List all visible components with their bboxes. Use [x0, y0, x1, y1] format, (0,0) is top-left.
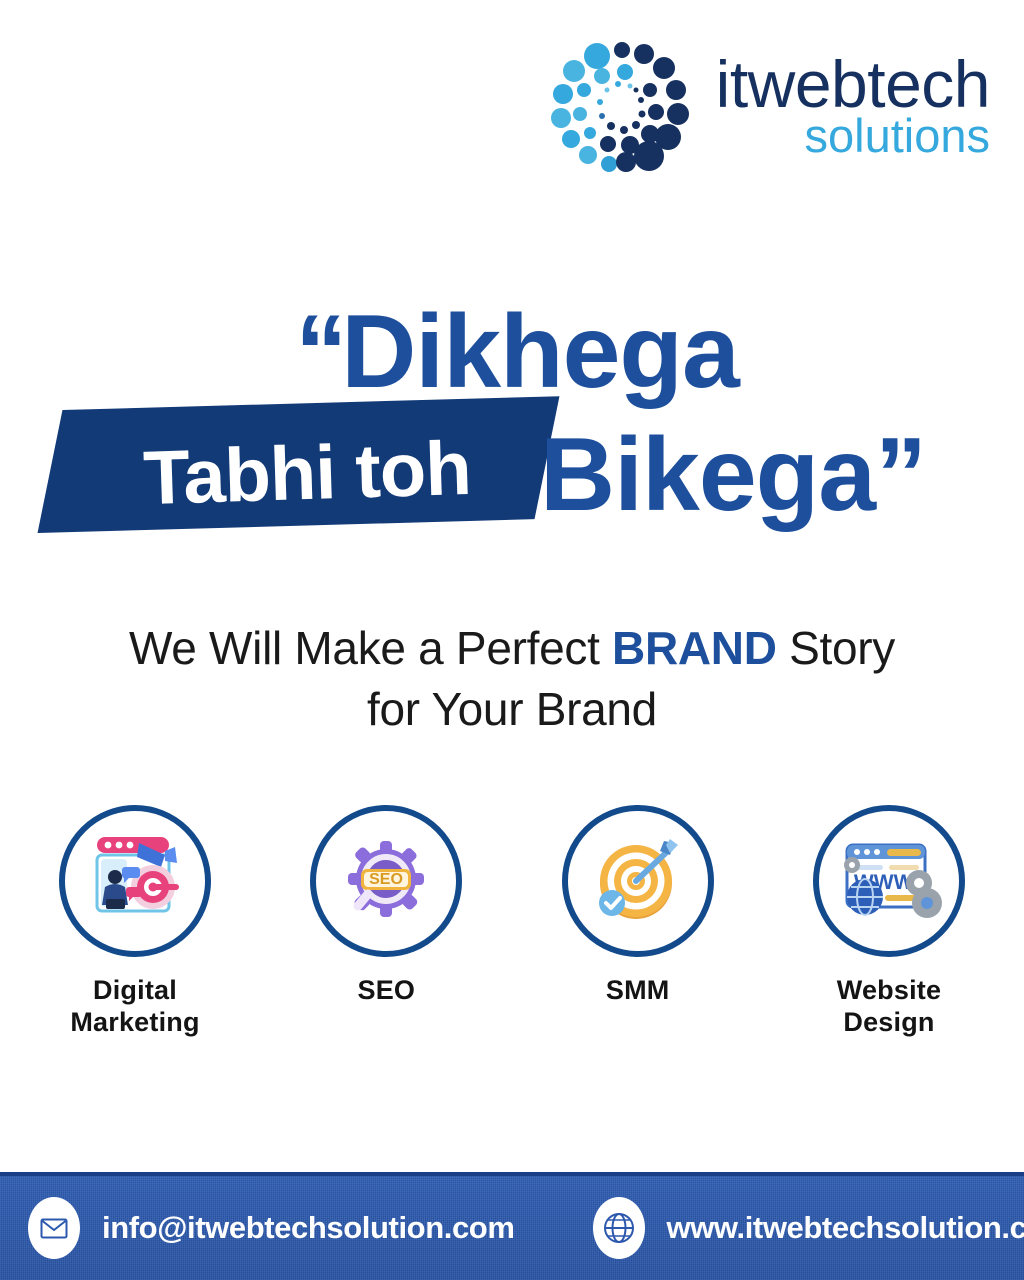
- subheading: We Will Make a Perfect BRAND Story for Y…: [0, 618, 1024, 739]
- digital-marketing-icon: [81, 829, 189, 933]
- headline-line-2: Tabhi toh Bikega”: [0, 398, 1024, 548]
- brand-logo: itwebtech solutions: [550, 38, 990, 173]
- svg-text:SEO: SEO: [369, 871, 403, 888]
- footer-email-text: info@itwebtechsolution.com: [102, 1210, 515, 1246]
- label-line-1: SEO: [358, 975, 416, 1005]
- smm-target-icon: [586, 831, 690, 931]
- subheading-part-1: We Will Make a Perfect: [129, 622, 612, 674]
- footer-website-text: www.itwebtechsolution.com: [667, 1210, 1024, 1246]
- service-icon-frame: SEO: [310, 805, 462, 957]
- service-item-website-design[interactable]: WWW. Website Design: [794, 805, 984, 1039]
- label-line-2: Design: [843, 1007, 934, 1037]
- service-icon-frame: [562, 805, 714, 957]
- subheading-line-2: for Your Brand: [367, 683, 657, 735]
- label-line-2: Marketing: [70, 1007, 199, 1037]
- service-icon-frame: [59, 805, 211, 957]
- service-item-digital-marketing[interactable]: Digital Marketing: [40, 805, 230, 1039]
- headline-word-bikega-group: Bikega”: [540, 416, 921, 535]
- footer-email-item[interactable]: info@itwebtechsolution.com: [28, 1197, 515, 1259]
- label-line-1: Website: [837, 975, 941, 1005]
- service-item-seo[interactable]: SEO SEO: [291, 805, 481, 1039]
- service-icon-frame: WWW.: [813, 805, 965, 957]
- website-design-icon: WWW.: [835, 831, 943, 931]
- dot-spiral-logo-icon: [550, 38, 698, 173]
- subheading-highlight-brand: BRAND: [612, 622, 777, 674]
- label-line-1: SMM: [606, 975, 670, 1005]
- service-label-smm: SMM: [606, 975, 670, 1007]
- close-quote: ”: [875, 417, 921, 533]
- label-line-1: Digital: [93, 975, 177, 1005]
- headline-word-dikhega: Dikhega: [341, 294, 739, 410]
- headline-block: “Dikhega Tabhi toh Bikega”: [0, 300, 1024, 548]
- banner-label: Tabhi toh: [91, 423, 524, 523]
- headline-line-1: “Dikhega: [0, 300, 1024, 404]
- globe-icon: [593, 1197, 645, 1259]
- service-label-seo: SEO: [358, 975, 416, 1007]
- seo-icon: SEO: [336, 831, 436, 931]
- envelope-icon: [28, 1197, 80, 1259]
- service-label-digital-marketing: Digital Marketing: [70, 975, 199, 1039]
- service-label-website-design: Website Design: [837, 975, 941, 1039]
- footer-ribbon: info@itwebtechsolution.com www.itwebtech…: [0, 1172, 1024, 1280]
- open-quote: “: [295, 294, 341, 410]
- service-item-smm[interactable]: SMM: [543, 805, 733, 1039]
- subheading-part-2: Story: [777, 622, 895, 674]
- headline-word-bikega: Bikega: [540, 417, 875, 533]
- services-row: Digital Marketing: [0, 805, 1024, 1039]
- logo-tagline: solutions: [805, 113, 991, 159]
- footer-website-item[interactable]: www.itwebtechsolution.com: [593, 1197, 1024, 1259]
- logo-wordmark: itwebtech: [716, 52, 990, 117]
